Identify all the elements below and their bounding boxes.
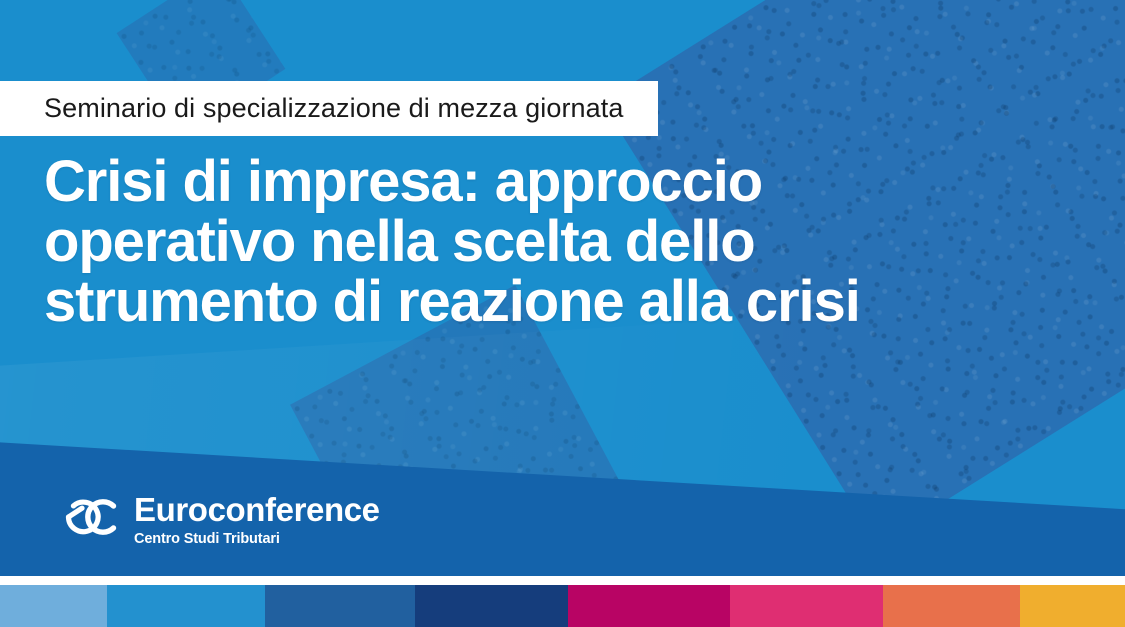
logo-wordmark: Euroconference Centro Studi Tributari [134,493,380,547]
color-bar-segment-pink [730,585,883,627]
logo-brand-name: Euroconference [134,493,380,526]
white-separator-strip [0,576,1125,585]
brand-color-bar [0,585,1125,627]
title-line-2: operativo nella scelta dello [44,212,1104,272]
color-bar-segment-navy-blue [415,585,568,627]
logo-tagline: Centro Studi Tributari [134,532,380,547]
color-bar-segment-sky-blue [107,585,265,627]
color-bar-segment-medium-blue [265,585,415,627]
color-bar-segment-yellow [1020,585,1125,627]
event-banner: Seminario di specializzazione di mezza g… [0,0,1125,627]
title-line-1: Crisi di impresa: approccio [44,152,1104,212]
ec-monogram-icon [44,493,120,546]
title-line-3: strumento di reazione alla crisi [44,272,1104,332]
event-type-label: Seminario di specializzazione di mezza g… [44,95,624,122]
color-bar-segment-orange [883,585,1020,627]
color-bar-segment-magenta [568,585,730,627]
euroconference-logo: Euroconference Centro Studi Tributari [44,493,380,547]
color-bar-segment-light-blue [0,585,107,627]
page-title: Crisi di impresa: approccio operativo ne… [44,152,1104,332]
event-type-tag: Seminario di specializzazione di mezza g… [0,81,658,136]
